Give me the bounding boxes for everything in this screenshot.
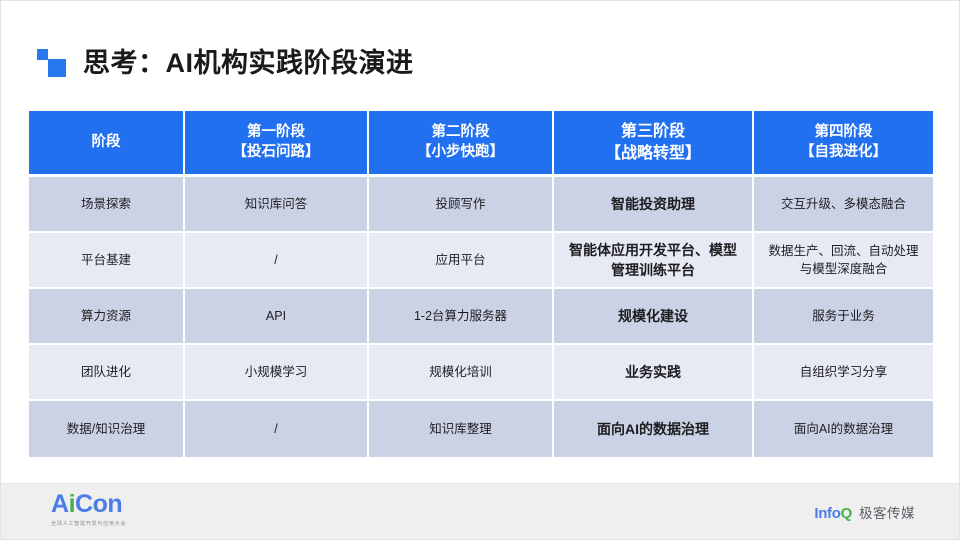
cell-stage-2: 投顾写作: [369, 177, 554, 233]
cell-stage-1: API: [185, 289, 369, 345]
column-header-stage-1-line2: 【投石问路】: [233, 144, 320, 160]
table-row: 团队进化 小规模学习 规模化培训 业务实践 自组织学习分享: [29, 345, 933, 401]
cell-stage-2: 1-2台算力服务器: [369, 289, 554, 345]
table-header: 阶段 第一阶段 【投石问路】 第二阶段 【小步快跑】 第三阶段 【战略转型】: [29, 111, 933, 177]
two-squares-icon: [37, 49, 67, 77]
cell-stage-4: 服务于业务: [754, 289, 933, 345]
aicon-logo-text-a: A: [51, 490, 69, 518]
infoq-brand: InfoQ 极客传媒: [814, 502, 915, 522]
column-header-stage-2-line1: 第二阶段: [432, 124, 490, 140]
row-label: 团队进化: [29, 345, 185, 401]
slide-footer: AiCon 全球人工智能开发与应用大会 InfoQ 极客传媒: [1, 483, 959, 539]
column-header-stage-2-line2: 【小步快跑】: [417, 144, 504, 160]
cell-stage-1: /: [185, 401, 369, 457]
column-header-stage-3-line2: 【战略转型】: [605, 145, 701, 162]
cell-stage-3: 规模化建设: [554, 289, 754, 345]
cell-stage-1: /: [185, 233, 369, 289]
table-header-row: 阶段 第一阶段 【投石问路】 第二阶段 【小步快跑】 第三阶段 【战略转型】: [29, 111, 933, 177]
cell-stage-4: 交互升级、多模态融合: [754, 177, 933, 233]
row-label: 数据/知识治理: [29, 401, 185, 457]
cell-stage-4: 自组织学习分享: [754, 345, 933, 401]
column-header-stage-1: 第一阶段 【投石问路】: [185, 111, 369, 177]
aicon-logo-text-con: Con: [75, 490, 122, 518]
table-row: 算力资源 API 1-2台算力服务器 规模化建设 服务于业务: [29, 289, 933, 345]
cell-stage-4: 面向AI的数据治理: [754, 401, 933, 457]
aicon-logo-subtitle: 全球人工智能开发与应用大会: [51, 520, 161, 527]
cell-stage-1: 知识库问答: [185, 177, 369, 233]
column-header-stage-4: 第四阶段 【自我进化】: [754, 111, 933, 177]
cell-stage-2: 规模化培训: [369, 345, 554, 401]
infoq-logo: InfoQ: [814, 505, 852, 522]
column-header-stage-3-line1: 第三阶段: [621, 123, 685, 140]
slide-canvas: 思考：AI机构实践阶段演进 阶段 第一阶段 【投石问路】 第二阶段: [0, 0, 960, 540]
column-header-dimension-line1: 阶段: [92, 134, 121, 150]
stage-table-wrapper: 阶段 第一阶段 【投石问路】 第二阶段 【小步快跑】 第三阶段 【战略转型】: [29, 111, 933, 457]
column-header-stage-4-line1: 第四阶段: [815, 124, 873, 140]
cell-stage-1: 小规模学习: [185, 345, 369, 401]
column-header-stage-3: 第三阶段 【战略转型】: [554, 111, 754, 177]
two-squares-icon-large: [48, 59, 66, 77]
table-body: 场景探索 知识库问答 投顾写作 智能投资助理 交互升级、多模态融合 平台基建 /…: [29, 177, 933, 457]
slide-title-row: 思考：AI机构实践阶段演进: [37, 41, 414, 85]
table-row: 场景探索 知识库问答 投顾写作 智能投资助理 交互升级、多模态融合: [29, 177, 933, 233]
column-header-stage-2: 第二阶段 【小步快跑】: [369, 111, 554, 177]
cell-stage-3: 面向AI的数据治理: [554, 401, 754, 457]
column-header-dimension: 阶段: [29, 111, 185, 177]
cell-stage-2: 应用平台: [369, 233, 554, 289]
infoq-logo-q: Q: [841, 505, 852, 522]
infoq-logo-info: Info: [814, 505, 840, 522]
aicon-logo-wordmark: AiCon: [51, 492, 161, 517]
column-header-stage-1-line1: 第一阶段: [247, 124, 305, 140]
column-header-stage-4-line2: 【自我进化】: [800, 144, 887, 160]
two-squares-icon-small: [37, 49, 48, 60]
cell-stage-3: 智能投资助理: [554, 177, 754, 233]
cell-stage-2: 知识库整理: [369, 401, 554, 457]
row-label: 平台基建: [29, 233, 185, 289]
page-title: 思考：AI机构实践阶段演进: [83, 50, 414, 77]
cell-stage-4: 数据生产、回流、自动处理与模型深度融合: [754, 233, 933, 289]
geek-media-label: 极客传媒: [859, 502, 915, 522]
aicon-logo: AiCon 全球人工智能开发与应用大会: [51, 492, 161, 527]
row-label: 算力资源: [29, 289, 185, 345]
row-label: 场景探索: [29, 177, 185, 233]
table-row: 数据/知识治理 / 知识库整理 面向AI的数据治理 面向AI的数据治理: [29, 401, 933, 457]
cell-stage-3: 智能体应用开发平台、模型管理训练平台: [554, 233, 754, 289]
stage-evolution-table: 阶段 第一阶段 【投石问路】 第二阶段 【小步快跑】 第三阶段 【战略转型】: [29, 111, 933, 457]
table-row: 平台基建 / 应用平台 智能体应用开发平台、模型管理训练平台 数据生产、回流、自…: [29, 233, 933, 289]
cell-stage-3: 业务实践: [554, 345, 754, 401]
